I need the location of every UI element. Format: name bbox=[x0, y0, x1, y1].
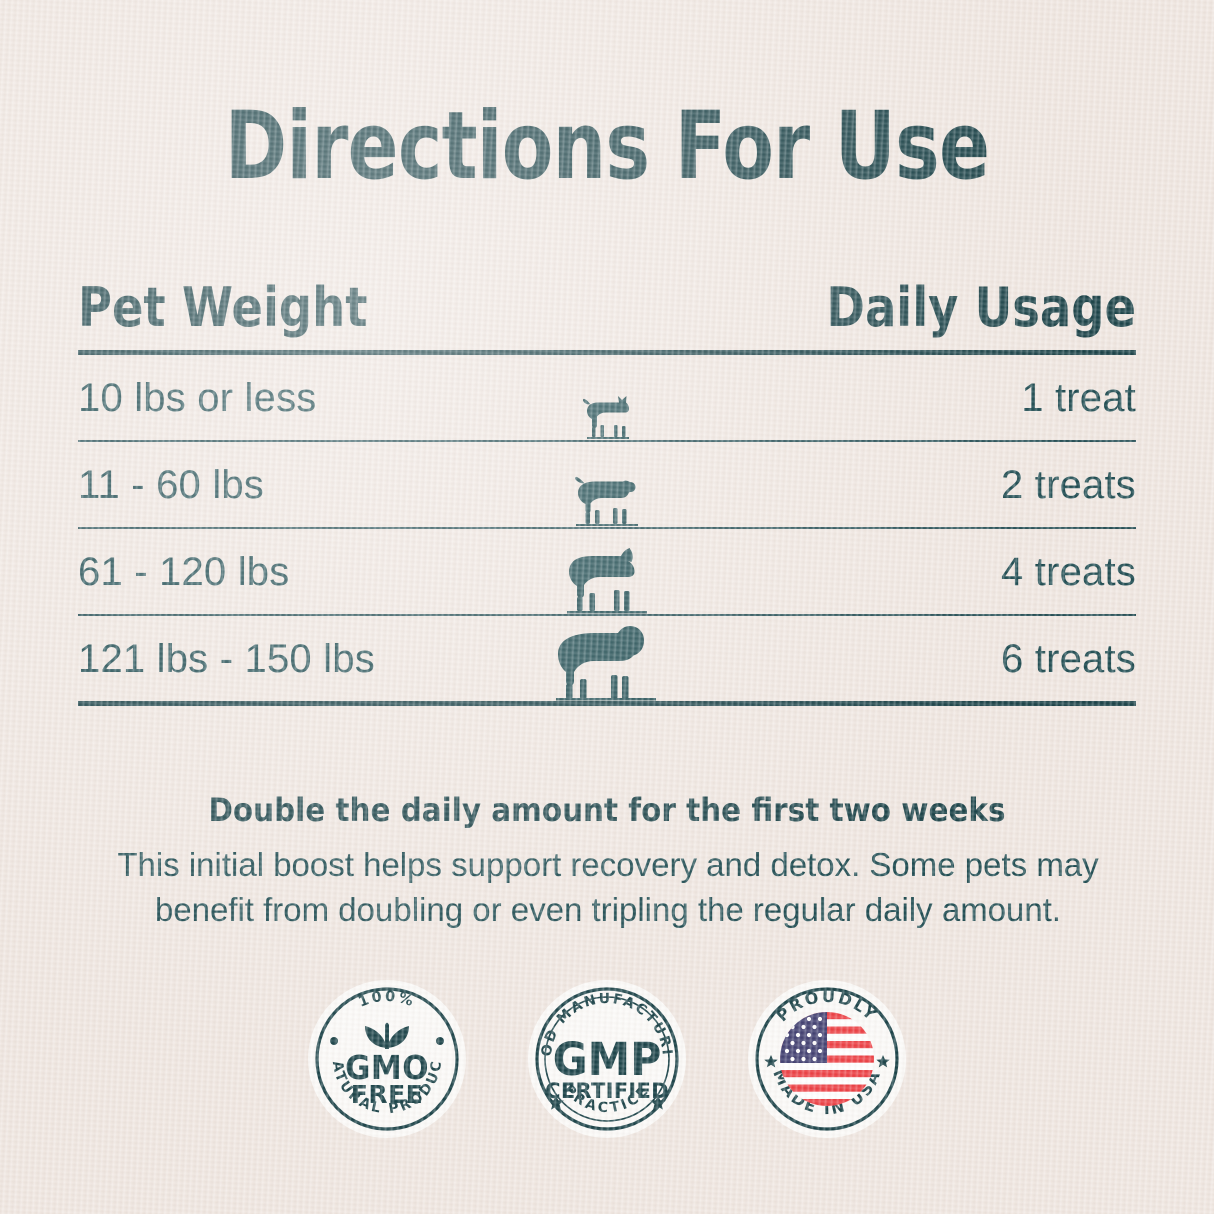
cell-pet-weight: 10 lbs or less bbox=[78, 376, 316, 420]
page-title: Directions For Use bbox=[121, 100, 1092, 194]
svg-text:FREE: FREE bbox=[351, 1080, 423, 1109]
cell-daily-usage: 1 treat bbox=[1021, 376, 1136, 420]
cell-pet-weight: 61 - 120 lbs bbox=[78, 550, 289, 594]
cell-daily-usage: 2 treats bbox=[1001, 463, 1136, 507]
cell-pet-weight: 11 - 60 lbs bbox=[78, 463, 264, 507]
table-row: 11 - 60 lbs 2 treats bbox=[78, 442, 1136, 527]
cell-pet-weight: 121 lbs - 150 lbs bbox=[78, 637, 375, 681]
table-row: 61 - 120 lbs 4 treats bbox=[78, 529, 1136, 614]
dog-large-icon bbox=[561, 544, 653, 614]
table-row: 121 lbs - 150 lbs 6 treats bbox=[78, 616, 1136, 701]
table-header-row: Pet Weight Daily Usage bbox=[78, 278, 1136, 350]
dog-medium-icon bbox=[567, 471, 647, 527]
dog-small-icon bbox=[576, 394, 638, 440]
gmp-certified-badge: GOOD MANUFACTURING PRACTICE GMP CERTIFIE… bbox=[526, 978, 688, 1140]
certification-badges: 100% NATURAL PRODUCT GMO FREE bbox=[0, 978, 1214, 1140]
column-header-pet-weight: Pet Weight bbox=[78, 278, 367, 338]
dosage-table: Pet Weight Daily Usage 10 lbs or less bbox=[78, 278, 1136, 706]
svg-text:CERTIFIED: CERTIFIED bbox=[545, 1079, 669, 1103]
table-row: 10 lbs or less 1 treat bbox=[78, 355, 1136, 440]
made-in-usa-badge: PROUDLY MADE IN USA bbox=[746, 978, 908, 1140]
dog-xlarge-icon bbox=[555, 619, 659, 701]
usa-flag-icon bbox=[780, 1012, 874, 1106]
note-headline: Double the daily amount for the first tw… bbox=[49, 791, 1166, 829]
table-bottom-divider bbox=[78, 701, 1136, 706]
cell-daily-usage: 6 treats bbox=[1001, 637, 1136, 681]
gmo-free-badge: 100% NATURAL PRODUCT GMO FREE bbox=[306, 978, 468, 1140]
column-header-daily-usage: Daily Usage bbox=[826, 278, 1136, 338]
cell-daily-usage: 4 treats bbox=[1001, 550, 1136, 594]
note-body: This initial boost helps support recover… bbox=[88, 842, 1128, 932]
